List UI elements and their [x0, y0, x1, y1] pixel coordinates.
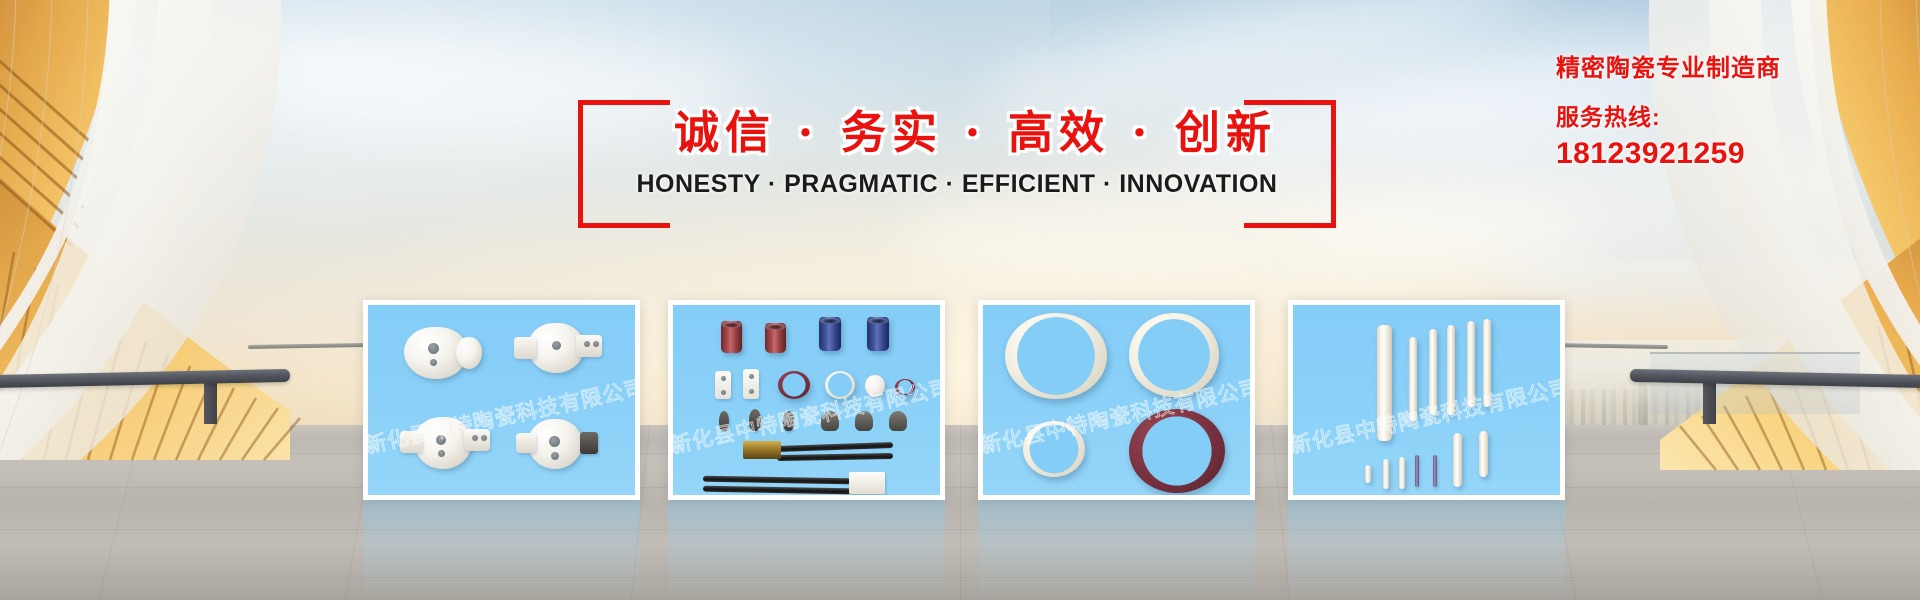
ceramic-tube-red: [765, 323, 786, 353]
wire-lead: [777, 453, 893, 461]
metal-clip: [719, 411, 729, 431]
ceramic-ring-white: [825, 371, 855, 399]
ceramic-ring-maroon: [1129, 409, 1225, 493]
product-panel-group: 新化县中特陶瓷科技有限公司: [0, 0, 1920, 600]
ceramic-rod-short: [1399, 457, 1405, 489]
ceramic-rod-short: [1365, 465, 1371, 483]
ceramic-rod: [1447, 325, 1455, 415]
ceramic-ring-small: [1023, 421, 1085, 477]
ceramic-washer-maroon: [895, 379, 915, 395]
ceramic-cap: [865, 375, 885, 397]
ceramic-rod: [1409, 337, 1417, 421]
ceramic-rod: [1483, 319, 1491, 407]
hero-banner: 诚信 · 务实 · 高效 · 创新 HONESTY · PRAGMATIC · …: [0, 0, 1920, 600]
product-panel-ceramic-tubes[interactable]: 新化县中特陶瓷科技有限公司: [668, 300, 945, 500]
product-panel-ceramic-lamp-holders[interactable]: 新化县中特陶瓷科技有限公司: [363, 300, 640, 500]
panel-photo: 新化县中特陶瓷科技有限公司: [1293, 305, 1560, 495]
panel-photo: 新化县中特陶瓷科技有限公司: [983, 305, 1250, 495]
metal-clip: [783, 411, 794, 431]
ceramic-rod: [1429, 329, 1437, 415]
ceramic-ring-large: [1005, 313, 1107, 399]
wire-lead: [777, 442, 893, 452]
metal-clip: [749, 409, 761, 431]
product-panel-ceramic-rods[interactable]: 新化县中特陶瓷科技有限公司: [1288, 300, 1565, 500]
panel-photo: 新化县中特陶瓷科技有限公司: [368, 305, 635, 495]
wire-lead: [703, 476, 851, 485]
ceramic-rod: [1467, 321, 1475, 407]
brass-connector: [743, 441, 781, 459]
ceramic-lamp-holder-side: [456, 337, 482, 369]
ceramic-rod-violet: [1415, 455, 1419, 487]
wire-lead: [703, 486, 851, 495]
ceramic-tube-blue: [819, 317, 841, 351]
ceramic-rod-violet: [1433, 455, 1437, 487]
ceramic-ring-large: [1129, 313, 1219, 397]
ceramic-rod: [1377, 325, 1392, 441]
ceramic-rod-medium: [1453, 433, 1462, 487]
panel-watermark: 新化县中特陶瓷科技有限公司: [1293, 362, 1560, 460]
ceramic-rod-short: [1383, 459, 1389, 489]
ceramic-tube-red: [721, 321, 742, 353]
product-panel-ceramic-rings[interactable]: 新化县中特陶瓷科技有限公司: [978, 300, 1255, 500]
white-connector: [849, 472, 885, 494]
ceramic-rod-medium: [1479, 431, 1488, 477]
metal-terminal: [855, 411, 873, 431]
ceramic-lamp-holder: [528, 419, 582, 469]
ceramic-tube-blue: [867, 317, 889, 351]
metal-terminal: [821, 411, 839, 431]
panel-photo: 新化县中特陶瓷科技有限公司: [673, 305, 940, 495]
metal-terminal: [889, 411, 907, 431]
ceramic-ring-maroon: [778, 371, 810, 399]
